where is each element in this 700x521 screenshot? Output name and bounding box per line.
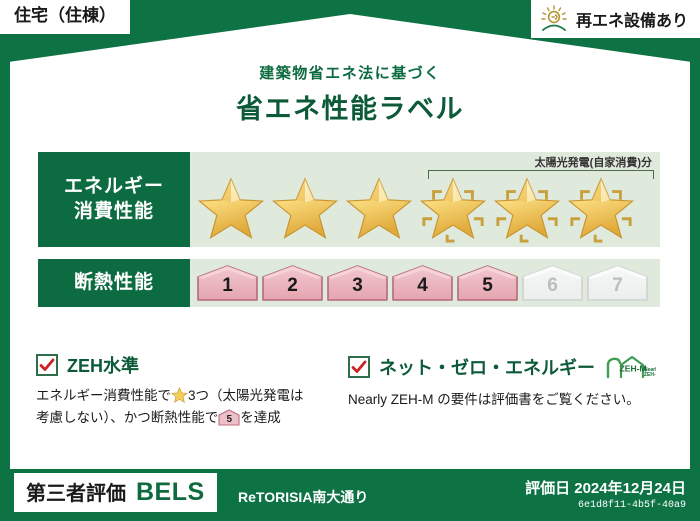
footer-bar: 第三者評価 BELS ReTORISIA南大通り 評価日 2024年12月24日… [0, 469, 700, 521]
energy-performance-label: エネルギー 消費性能 [38, 152, 190, 247]
building-type-badge: 住宅（住棟） [0, 0, 130, 34]
criteria-columns: ZEH水準 エネルギー消費性能で3つ（太陽光発電は考慮しない）、かつ断熱性能で5… [36, 352, 666, 429]
solar-generation-note: 太陽光発電(自家消費)分 [535, 154, 652, 170]
energy-label-line1: エネルギー [64, 175, 164, 199]
insulation-performance-row: 断熱性能 1 2 3 4 [38, 259, 660, 307]
bels-certification-badge: 第三者評価 BELS [14, 473, 217, 512]
zeh-m-logo: ZEH-M Nearly ZEH-M [604, 352, 656, 382]
svg-text:ZEH-M: ZEH-M [620, 364, 647, 374]
energy-label-line2: 消費性能 [74, 200, 154, 224]
insulation-label-text: 断熱性能 [74, 271, 154, 295]
net-zero-heading: ネット・ゼロ・エネルギー ZEH-M Nearly ZEH-M [348, 352, 656, 382]
net-zero-checkbox [348, 356, 370, 378]
insulation-grade-value: 2 [261, 275, 324, 297]
insulation-grade-value: 5 [456, 275, 519, 297]
inline-star-icon [171, 387, 188, 403]
zeh-standard-heading: ZEH水準 [36, 352, 316, 378]
insulation-grade-active: 4 [391, 264, 454, 302]
title-block: 建築物省エネ法に基づく 省エネ性能ラベル [0, 62, 700, 126]
inline-grade-badge: 5 [218, 409, 240, 426]
insulation-grade-value: 1 [196, 275, 259, 297]
zeh-body-part3: を達成 [240, 410, 281, 425]
star-base [194, 175, 268, 245]
svg-text:ZEH-M: ZEH-M [644, 372, 656, 378]
zeh-standard-title: ZEH水準 [67, 352, 139, 378]
insulation-grade-value: 6 [521, 275, 584, 297]
zeh-standard-column: ZEH水準 エネルギー消費性能で3つ（太陽光発電は考慮しない）、かつ断熱性能で5… [36, 352, 326, 429]
zeh-standard-body: エネルギー消費性能で3つ（太陽光発電は考慮しない）、かつ断熱性能で5を達成 [36, 385, 316, 429]
insulation-grade-active: 2 [261, 264, 324, 302]
zeh-standard-checkbox [36, 354, 58, 376]
evaluation-id: 6e1d8f11-4b5f-40a9 [525, 500, 686, 511]
star-solar [490, 175, 564, 245]
bels-logo-text: BELS [136, 478, 205, 507]
star-base [268, 175, 342, 245]
net-zero-title: ネット・ゼロ・エネルギー [379, 354, 595, 380]
star-solar [416, 175, 490, 245]
insulation-grade-active: 3 [326, 264, 389, 302]
evaluation-info: 評価日 2024年12月24日 6e1d8f11-4b5f-40a9 [525, 477, 686, 511]
insulation-performance-track: 1 2 3 4 5 [190, 259, 660, 307]
renewable-equipment-badge: 再エネ設備あり [531, 0, 700, 38]
check-icon [39, 357, 55, 373]
page-title: 省エネ性能ラベル [0, 87, 700, 126]
title-subtitle: 建築物省エネ法に基づく [0, 62, 700, 83]
insulation-grade-value: 3 [326, 275, 389, 297]
insulation-grade-value: 7 [586, 275, 649, 297]
insulation-performance-label: 断熱性能 [38, 259, 190, 307]
insulation-grade-value: 4 [391, 275, 454, 297]
building-name: ReTORISIA南大通り [238, 487, 368, 507]
energy-label-root: 住宅（住棟） 再エネ設備あり 建築物省エネ法に基づく [0, 0, 700, 521]
check-icon [351, 359, 367, 375]
star-solar [564, 175, 638, 245]
insulation-grade-inactive: 6 [521, 264, 584, 302]
inline-grade-value: 5 [218, 412, 240, 428]
insulation-grade-inactive: 7 [586, 264, 649, 302]
solar-sun-icon [539, 5, 569, 33]
star-base [342, 175, 416, 245]
evaluation-date: 評価日 2024年12月24日 [525, 477, 686, 498]
energy-performance-row: エネルギー 消費性能 太陽光発電(自家消費)分 [38, 152, 660, 247]
insulation-grade-scale: 1 2 3 4 5 [196, 264, 649, 302]
zeh-body-part1: エネルギー消費性能で [36, 388, 171, 403]
insulation-grade-active: 1 [196, 264, 259, 302]
energy-performance-track: 太陽光発電(自家消費)分 [190, 152, 660, 247]
metric-rows: エネルギー 消費性能 太陽光発電(自家消費)分 [38, 152, 660, 319]
renewable-equipment-label: 再エネ設備あり [576, 7, 688, 31]
energy-star-rating [194, 174, 656, 245]
bels-prefix-label: 第三者評価 [26, 477, 126, 506]
insulation-grade-active: 5 [456, 264, 519, 302]
net-zero-energy-column: ネット・ゼロ・エネルギー ZEH-M Nearly ZEH-M Nearly Z… [326, 352, 666, 429]
net-zero-body: Nearly ZEH-M の要件は評価書をご覧ください。 [348, 389, 656, 411]
